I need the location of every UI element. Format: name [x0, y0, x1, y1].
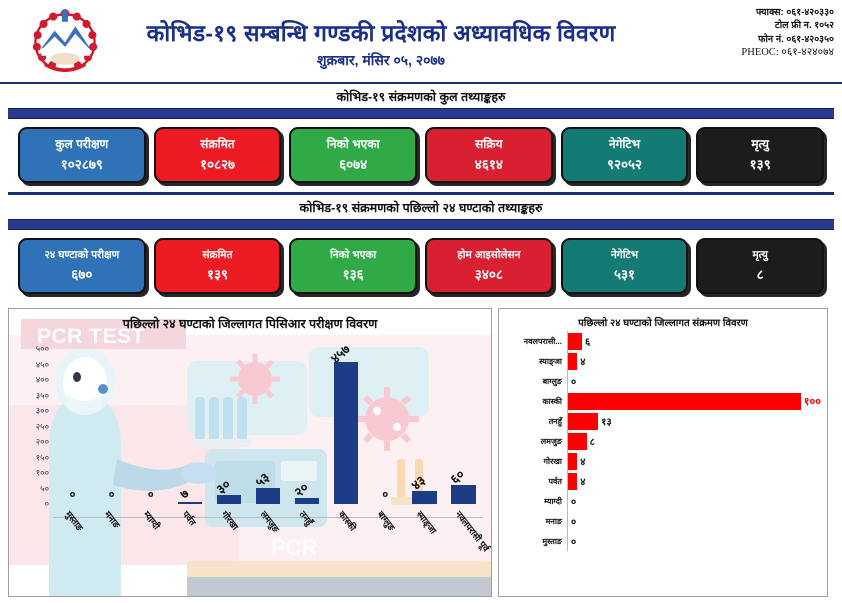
pcr-bar-column: ०	[366, 349, 405, 504]
last24h-stat-card-2[interactable]: निको भएका१३६	[289, 238, 417, 294]
last24h-stat-card-0[interactable]: २४ घण्टाको परीक्षण६७०	[18, 238, 146, 294]
charts-row: PCR PCR TEST पछिल्लो २४ घण्टाको जिल्लागत…	[0, 303, 842, 603]
total-stat-card-value: ६०७४	[339, 155, 367, 173]
toll-free-number: टोल फ्री न. १०५२	[741, 19, 834, 32]
infection-chart-title: पछिल्लो २४ घण्टाको जिल्लागत संक्रमण विवर…	[499, 315, 827, 329]
total-stat-card-4[interactable]: नेगेटिभ९२०५२	[561, 127, 689, 183]
last24h-stat-card-value: १३६	[343, 265, 364, 283]
phone-number: फोन नं. ०६१-४२०३५०	[741, 33, 834, 46]
infection-bar-value-label: ०	[571, 534, 576, 548]
total-stat-card-value: १०२८७९	[61, 155, 103, 173]
page-date: शुक्रबार, मंसिर ०५, २०७७	[48, 51, 714, 70]
infection-bar-track: ४	[567, 351, 821, 371]
last24h-stat-card-value: ८	[757, 265, 764, 283]
pcr-x-label-slot: मनाङ	[92, 504, 131, 594]
total-stat-card-value: ४६१४	[475, 155, 503, 173]
infection-bar-row: नवलपरासी...६	[499, 331, 821, 351]
infection-bar-track: १००	[567, 391, 821, 411]
infection-bar-track: ४	[567, 451, 821, 471]
pcr-y-tick: ३५०	[36, 390, 49, 401]
pcr-y-tick: ४५०	[36, 359, 49, 370]
total-stats-title: कोभिड-१९ संक्रमणको कुल तथ्याङ्कहरु	[8, 84, 834, 108]
pcr-bar-value-label: ०	[109, 487, 115, 502]
pcr-x-label-slot: कास्की	[327, 504, 366, 594]
infection-bar-value-label: १००	[804, 394, 821, 409]
pcr-bar-column: ०	[53, 349, 92, 504]
total-stat-card-2[interactable]: निको भएका६०७४	[289, 127, 417, 183]
nepal-emblem-icon	[28, 4, 102, 78]
infection-bar-row: स्याङ्जा४	[499, 351, 821, 371]
pcr-y-tick: ३००	[36, 406, 49, 417]
pcr-bar-column: २०	[288, 349, 327, 504]
total-stat-card-value: ९२०५२	[607, 155, 642, 173]
pcr-y-tick: ५०	[40, 483, 49, 494]
pcr-bar-value-label: ६०	[446, 466, 468, 488]
pcr-y-tick: ५००	[36, 344, 49, 355]
infection-category-label: म्याग्दी	[499, 496, 567, 507]
last24h-stats-section: कोभिड-१९ संक्रमणको पछिल्लो २४ घण्टाको तथ…	[0, 195, 842, 303]
page-title: कोभिड-१९ सम्बन्धि गण्डकी प्रदेशको अध्याव…	[48, 20, 714, 46]
infection-bar	[568, 393, 801, 410]
last24h-stat-card-label: २४ घण्टाको परीक्षण	[44, 249, 119, 262]
pcr-bar-column: ३०	[209, 349, 248, 504]
pcr-x-label-slot: गोरखा	[209, 504, 248, 594]
total-stat-card-value: १३९	[750, 155, 771, 173]
pcr-bar-value-label: ७	[175, 484, 192, 502]
total-stats-section: कोभिड-१९ संक्रमणको कुल तथ्याङ्कहरु कुल प…	[0, 84, 842, 192]
pcr-x-tick-label: कास्की	[336, 508, 360, 533]
pcr-y-tick: २००	[36, 437, 49, 448]
pcr-bar-value-label: ५३	[251, 468, 273, 490]
pcr-x-label-slot: तनहुँ	[288, 504, 327, 594]
last24h-stat-card-value: ५३१	[614, 265, 635, 283]
pcr-bar-value-label: २०	[290, 478, 312, 500]
last24h-stat-card-value: ३४०८	[475, 265, 503, 283]
last24h-stat-card-1[interactable]: संक्रमित१३९	[154, 238, 282, 294]
last24h-stat-card-4[interactable]: नेगेटिभ५३१	[561, 238, 689, 294]
infection-bar-value-label: ४	[580, 454, 585, 468]
pcr-x-label-slot: लमजुङ	[248, 504, 287, 594]
total-stat-card-3[interactable]: सक्रिय४६१४	[425, 127, 553, 183]
pcr-x-tick-label: स्याङ्जा	[414, 508, 440, 536]
infection-bar-track: ६	[567, 331, 821, 351]
last24h-stat-card-value: ६७०	[71, 265, 92, 283]
pcr-y-tick: ४००	[36, 375, 49, 386]
infection-bar-row: तनहुँ१३	[499, 411, 821, 431]
pcr-bar: ५३	[256, 488, 280, 504]
last24h-stat-card-label: संक्रमित	[202, 249, 232, 262]
infection-bar-value-label: ६	[585, 334, 590, 348]
infection-bar-track: १३	[567, 411, 821, 431]
pcr-bar-value-label: ३०	[212, 475, 234, 497]
infection-category-label: तनहुँ	[499, 416, 567, 427]
last24h-stat-card-5[interactable]: मृत्यु८	[696, 238, 824, 294]
total-stat-card-label: संक्रमित	[200, 137, 234, 151]
pcr-x-tick-label: तनहुँ	[297, 508, 316, 528]
pcr-y-axis: ०५०१००१५०२००२५०३००३५०४००४५०५००	[9, 349, 53, 504]
pcr-x-tick-label: पर्वत	[180, 508, 200, 528]
infection-bar-value-label: ०	[571, 494, 576, 508]
infection-bar	[568, 453, 577, 470]
infection-bar-row: मनाङ०	[499, 511, 821, 531]
pcr-bar-value-label: ०	[382, 487, 388, 502]
total-stat-card-1[interactable]: संक्रमित१०८२७	[154, 127, 282, 183]
last24h-stat-card-label: नेगेटिभ	[611, 249, 638, 262]
infection-bar	[568, 353, 577, 370]
infection-bar-value-label: ०	[571, 374, 576, 388]
pcr-bar-column: ५३	[248, 349, 287, 504]
infection-bar-row: लमजुङ८	[499, 431, 821, 451]
page-header: कोभिड-१९ सम्बन्धि गण्डकी प्रदेशको अध्याव…	[0, 0, 842, 84]
infection-bar-track: ०	[567, 371, 821, 391]
infection-bar	[568, 413, 598, 430]
pcr-bar-column: ०	[92, 349, 131, 504]
infection-bar-value-label: १३	[601, 414, 611, 428]
total-stat-card-5[interactable]: मृत्यु१३९	[696, 127, 824, 183]
total-stat-card-label: निको भएका	[327, 137, 380, 151]
last24h-stat-card-label: मृत्यु	[752, 249, 767, 262]
pcr-x-tick-label: गोरखा	[219, 508, 242, 532]
section-divider-bar-2	[8, 219, 834, 230]
infection-chart: पछिल्लो २४ घण्टाको जिल्लागत संक्रमण विवर…	[498, 308, 828, 597]
pcr-bar-value-label: ४३	[407, 471, 429, 493]
pcr-bar-value-label: ०	[70, 487, 76, 502]
infection-bar-value-label: ८	[590, 434, 595, 448]
infection-bar	[568, 473, 577, 490]
infection-bar-track: ४	[567, 471, 821, 491]
total-stat-card-label: कुल परीक्षण	[55, 137, 108, 151]
infection-category-label: कास्की	[499, 396, 567, 407]
pcr-y-tick: ०	[45, 499, 49, 510]
infection-category-label: नवलपरासी...	[499, 336, 567, 347]
fax-number: फ्याक्स: ०६१-४२०३३०	[741, 6, 834, 19]
infection-category-label: गोरखा	[499, 456, 567, 467]
pcr-x-label-slot: पर्वत	[170, 504, 209, 594]
pcr-x-label-slot: स्याङ्जा	[405, 504, 444, 594]
last24h-stat-card-label: निको भएका	[330, 249, 376, 262]
total-stats-cards: कुल परीक्षण१०२८७९संक्रमित१०८२७निको भएका६…	[8, 119, 834, 192]
pcr-bar-value-label: ०	[148, 487, 154, 502]
pcr-x-tick-label: लमजुङ	[258, 508, 283, 535]
pcr-bar-column: ४५७	[327, 349, 366, 504]
infection-bar-track: ८	[567, 431, 821, 451]
last24h-stat-card-label: होम आइसोलेसन	[457, 249, 520, 262]
pcr-plot-area: ०००७३०५३२०४५७०४३६०	[53, 349, 483, 504]
infection-bar-value-label: ०	[571, 514, 576, 528]
total-stat-card-label: सक्रिय	[475, 137, 502, 151]
pcr-x-label-slot: म्याग्दी	[131, 504, 170, 594]
pcr-bar-column: ०	[131, 349, 170, 504]
pcr-bar: ३०	[217, 495, 241, 504]
pcr-bar: ४३	[412, 491, 436, 504]
infection-bar-row: मुस्ताङ०	[499, 531, 821, 551]
infection-bar-row: म्याग्दी०	[499, 491, 821, 511]
total-stat-card-0[interactable]: कुल परीक्षण१०२८७९	[18, 127, 146, 183]
pcr-bar-column: ६०	[444, 349, 483, 504]
pcr-y-tick: १००	[36, 468, 49, 479]
pcr-x-axis-labels: मुस्ताङमनाङम्याग्दीपर्वतगोरखालमजुङतनहुँक…	[53, 504, 483, 594]
pcr-test-chart: PCR PCR TEST पछिल्लो २४ घण्टाको जिल्लागत…	[8, 308, 492, 597]
infection-category-label: पर्वत	[499, 476, 567, 487]
pheoc-number: PHEOC: ०६१-४२४०७४	[741, 46, 834, 61]
infection-bar-row: गोरखा४	[499, 451, 821, 471]
last24h-stats-title: कोभिड-१९ संक्रमणको पछिल्लो २४ घण्टाको तथ…	[8, 195, 834, 219]
infection-category-label: लमजुङ	[499, 436, 567, 447]
infection-bar-track: ०	[567, 491, 821, 511]
total-stat-card-value: १०८२७	[200, 155, 235, 173]
last24h-stat-card-3[interactable]: होम आइसोलेसन३४०८	[425, 238, 553, 294]
infection-bar	[568, 333, 582, 350]
infection-bar-row: बाग्लुङ०	[499, 371, 821, 391]
infection-bar-track: ०	[567, 531, 821, 551]
infection-category-label: बाग्लुङ	[499, 376, 567, 387]
pcr-bar-column: ७	[170, 349, 209, 504]
contact-info: फ्याक्स: ०६१-४२०३३० टोल फ्री न. १०५२ फोन…	[741, 6, 834, 61]
infection-bar-track: ०	[567, 511, 821, 531]
infection-bar-value-label: ४	[580, 474, 585, 488]
pcr-x-label-slot: नवलपरासी पूर्व	[444, 504, 483, 594]
infection-bar-row: कास्की१००	[499, 391, 821, 411]
pcr-x-label-slot: बाग्लुङ	[366, 504, 405, 594]
pcr-bar: ४५७	[334, 362, 358, 504]
total-stat-card-label: नेगेटिभ	[609, 137, 640, 151]
infection-category-label: मुस्ताङ	[499, 536, 567, 547]
pcr-x-tick-label: म्याग्दी	[140, 508, 163, 532]
infection-category-label: मनाङ	[499, 516, 567, 527]
pcr-chart-title: पछिल्लो २४ घण्टाको जिल्लागत पिसिआर परीक्…	[9, 315, 491, 332]
pcr-x-tick-label: मुस्ताङ	[62, 508, 86, 533]
last24h-stats-cards: २४ घण्टाको परीक्षण६७०संक्रमित१३९निको भएक…	[8, 230, 834, 303]
total-stat-card-label: मृत्यु	[751, 137, 769, 151]
pcr-bar-column: ४३	[405, 349, 444, 504]
infection-bar-row: पर्वत४	[499, 471, 821, 491]
infection-bar	[568, 433, 587, 450]
infection-bar-value-label: ४	[580, 354, 585, 368]
section-divider-bar	[8, 108, 834, 119]
pcr-y-tick: २५०	[36, 421, 49, 432]
infection-category-label: स्याङ्जा	[499, 356, 567, 367]
pcr-x-label-slot: मुस्ताङ	[53, 504, 92, 594]
pcr-x-tick-label: बाग्लुङ	[375, 508, 399, 533]
pcr-x-tick-label: मनाङ	[101, 508, 123, 531]
infection-plot-area: नवलपरासी...६स्याङ्जा४बाग्लुङ०कास्की१००तन…	[499, 331, 821, 588]
last24h-stat-card-value: १३९	[207, 265, 228, 283]
pcr-bar: ६०	[451, 485, 475, 504]
pcr-y-tick: १५०	[36, 452, 49, 463]
